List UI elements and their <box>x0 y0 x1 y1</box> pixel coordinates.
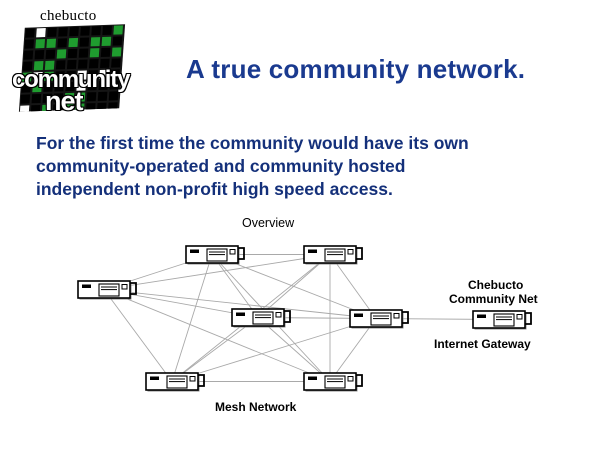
node-port <box>276 313 281 318</box>
gateway-title-line-2: Community Net <box>449 292 538 306</box>
node-status-led <box>477 315 486 319</box>
mesh-node-top-left[interactable] <box>186 246 244 265</box>
node-status-led <box>150 377 159 381</box>
diagram-label-overview: Overview <box>242 216 294 230</box>
node-status-led <box>82 285 91 289</box>
node-status-led <box>190 250 199 254</box>
network-diagram-svg <box>0 0 600 450</box>
node-port <box>230 250 235 255</box>
node-port <box>190 377 195 382</box>
mesh-node-left[interactable] <box>78 281 136 300</box>
diagram-label-mesh-network: Mesh Network <box>215 400 296 414</box>
slide-canvas: chebucto community net A true community … <box>0 0 600 450</box>
node-status-led <box>236 313 245 317</box>
node-port <box>394 314 399 319</box>
gateway-title-line-1: Chebucto <box>468 278 523 292</box>
mesh-node-right[interactable] <box>350 310 408 329</box>
mesh-node-top-right[interactable] <box>304 246 362 265</box>
mesh-node-center[interactable] <box>232 309 290 328</box>
network-link <box>172 319 376 382</box>
node-status-led <box>354 314 363 318</box>
node-port <box>517 315 522 320</box>
gateway-subtitle: Internet Gateway <box>434 337 531 351</box>
node-status-led <box>308 377 317 381</box>
internet-gateway-node[interactable] <box>473 311 531 330</box>
node-port <box>348 377 353 382</box>
network-link <box>172 255 212 382</box>
network-nodes-layer <box>78 246 531 392</box>
node-port <box>348 250 353 255</box>
mesh-node-bottom-right[interactable] <box>304 373 362 392</box>
node-port <box>122 285 127 290</box>
mesh-node-bottom-left[interactable] <box>146 373 204 392</box>
node-status-led <box>308 250 317 254</box>
network-links-layer <box>104 255 499 382</box>
network-diagram <box>0 0 600 450</box>
